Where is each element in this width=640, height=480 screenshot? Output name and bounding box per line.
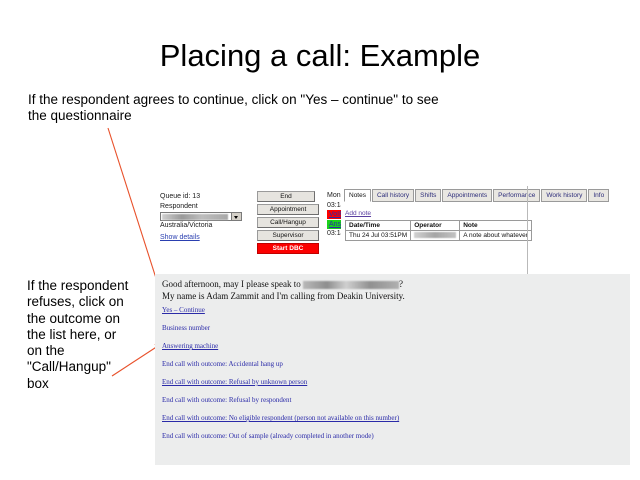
annotation-left-text: If the respondent refuses, click on the … <box>27 278 132 392</box>
supervisor-button[interactable]: Supervisor <box>257 230 319 241</box>
link-outcome-refusal-unknown-person[interactable]: End call with outcome: Refusal by unknow… <box>162 378 582 387</box>
link-answering-machine[interactable]: Answering machine <box>162 342 582 351</box>
link-outcome-out-of-sample[interactable]: End call with outcome: Out of sample (al… <box>162 432 582 441</box>
script-line1-prefix: Good afternoon, may I please speak to <box>162 279 303 289</box>
start-dbc-button[interactable]: Start DBC <box>257 243 319 254</box>
operator-redacted <box>414 232 456 238</box>
link-yes-continue[interactable]: Yes – Continue <box>162 306 582 315</box>
table-row: Thu 24 Jul 03:51PM A note about whatever <box>346 231 532 241</box>
embedded-app-screenshot: Queue id: 13 Respondent Australia/Victor… <box>155 186 630 465</box>
outcome-link-list: Yes – Continue Business number Answering… <box>162 306 582 450</box>
respondent-value-redacted <box>162 214 228 220</box>
tab-shifts[interactable]: Shifts <box>415 189 441 202</box>
panel-divider <box>527 186 630 274</box>
annotation-top-text: If the respondent agrees to continue, cl… <box>28 92 458 124</box>
queue-info-block: Queue id: 13 Respondent Australia/Victor… <box>160 192 252 242</box>
cell-datetime: Thu 24 Jul 03:51PM <box>346 231 411 241</box>
cell-note: A note about whatever <box>460 231 532 241</box>
arrow-to-script <box>108 128 162 297</box>
respondent-name-redacted <box>303 281 399 289</box>
respondent-label: Respondent <box>160 202 252 212</box>
tab-notes[interactable]: Notes <box>344 189 371 202</box>
notes-table: Date/Time Operator Note Thu 24 Jul 03:51… <box>345 220 532 241</box>
call-script: Good afternoon, may I please speak to ? … <box>162 278 562 302</box>
show-details-link[interactable]: Show details <box>160 233 252 243</box>
appointment-button[interactable]: Appointment <box>257 204 319 215</box>
link-business-number[interactable]: Business number <box>162 324 582 333</box>
slide-canvas: Placing a call: Example If the responden… <box>0 0 640 480</box>
region-label: Australia/Victoria <box>160 221 252 231</box>
tab-call-history[interactable]: Call history <box>372 189 414 202</box>
app-header-area: Queue id: 13 Respondent Australia/Victor… <box>155 186 630 274</box>
script-line2: My name is Adam Zammit and I'm calling f… <box>162 291 405 301</box>
respondent-select[interactable] <box>160 212 242 221</box>
page-title: Placing a call: Example <box>0 38 640 74</box>
column-header-datetime: Date/Time <box>346 221 411 231</box>
app-script-area: Good afternoon, may I please speak to ? … <box>155 274 630 465</box>
link-outcome-refusal-respondent[interactable]: End call with outcome: Refusal by respon… <box>162 396 582 405</box>
respondent-tab-panel: Notes Call history Shifts Appointments P… <box>341 186 630 274</box>
call-hangup-button[interactable]: Call/Hangup <box>257 217 319 228</box>
end-button[interactable]: End <box>257 191 315 202</box>
link-outcome-accidental-hangup[interactable]: End call with outcome: Accidental hang u… <box>162 360 582 369</box>
queue-id-label: Queue id: 13 <box>160 192 252 202</box>
link-outcome-no-eligible-respondent[interactable]: End call with outcome: No eligible respo… <box>162 414 582 423</box>
column-header-note: Note <box>460 221 532 231</box>
cell-operator <box>411 231 460 241</box>
table-header-row: Date/Time Operator Note <box>346 221 532 231</box>
chevron-down-icon[interactable] <box>231 213 241 220</box>
add-note-link[interactable]: Add note <box>345 210 371 217</box>
script-line1-suffix: ? <box>399 279 403 289</box>
call-action-buttons: End Appointment Call/Hangup Supervisor S… <box>257 191 319 256</box>
tab-appointments[interactable]: Appointments <box>442 189 492 202</box>
column-header-operator: Operator <box>411 221 460 231</box>
